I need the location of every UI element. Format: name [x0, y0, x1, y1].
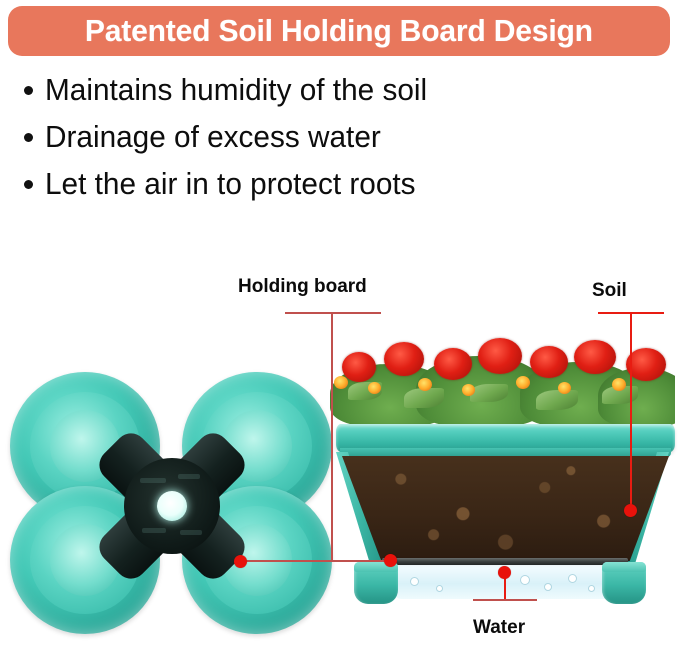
accent-flower-bloom	[462, 384, 475, 396]
water-bubble	[410, 577, 419, 586]
planter-foot	[602, 562, 646, 604]
holding-board-rib	[140, 478, 166, 483]
list-item: Maintains humidity of the soil	[24, 72, 584, 119]
accent-flower-bloom	[334, 376, 348, 389]
soil-leader-vertical	[630, 312, 632, 510]
bullet-point-icon	[24, 133, 33, 142]
callout-label-holding-board: Holding board	[238, 276, 367, 298]
list-item-label: Maintains humidity of the soil	[45, 72, 427, 108]
bullet-point-icon	[24, 180, 33, 189]
planter-cross-section-diagram	[330, 330, 675, 605]
planter-foot-rim	[602, 562, 646, 572]
list-item: Drainage of excess water	[24, 119, 584, 166]
accent-flower-bloom	[368, 382, 381, 394]
holding-board-leader-crossbar	[285, 312, 381, 314]
accent-flower-bloom	[558, 382, 571, 394]
holding-board-insert	[81, 415, 263, 597]
flower-bloom	[626, 348, 666, 381]
header-banner: Patented Soil Holding Board Design	[8, 6, 670, 56]
water-bubble	[436, 585, 443, 592]
page-title: Patented Soil Holding Board Design	[85, 13, 593, 49]
holding-board-rib	[180, 530, 202, 535]
holding-board-leader-vertical	[331, 312, 333, 561]
holding-board-rib	[178, 474, 200, 479]
planter-rim-lip	[340, 448, 671, 457]
callout-label-soil: Soil	[592, 280, 627, 302]
planter-top-view-photo	[8, 372, 334, 634]
water-bubble	[588, 585, 595, 592]
leaf	[536, 390, 578, 410]
water-bubble	[520, 575, 530, 585]
planter-foot	[354, 562, 398, 604]
list-item-label: Drainage of excess water	[45, 119, 381, 155]
accent-flower-bloom	[612, 378, 626, 391]
flower-bloom	[342, 352, 376, 382]
soil-marker-dot	[624, 504, 637, 517]
list-item-label: Let the air in to protect roots	[45, 166, 416, 202]
accent-flower-bloom	[516, 376, 530, 389]
leaf	[404, 388, 444, 408]
drainage-hole	[157, 491, 187, 521]
holding-board-rib	[142, 528, 166, 533]
list-item: Let the air in to protect roots	[24, 166, 584, 213]
flower-bloom	[530, 346, 568, 378]
holding-board-leader-horizontal	[240, 560, 392, 562]
flower-foliage-group	[330, 330, 675, 426]
flower-bloom	[434, 348, 472, 380]
flower-bloom	[478, 338, 522, 374]
product-infographic: Patented Soil Holding Board Design Maint…	[0, 0, 679, 646]
water-bubble	[568, 574, 577, 583]
holding-board-marker-dot	[234, 555, 247, 568]
accent-flower-bloom	[418, 378, 432, 391]
callout-label-water: Water	[473, 617, 525, 639]
flower-bloom	[384, 342, 424, 376]
soil-fill	[342, 456, 669, 561]
bullet-point-icon	[24, 86, 33, 95]
leaf	[470, 384, 508, 402]
water-bubble	[544, 583, 552, 591]
flower-bloom	[574, 340, 616, 374]
water-leader-crossbar	[473, 599, 537, 601]
feature-list: Maintains humidity of the soil Drainage …	[24, 72, 584, 213]
water-marker-dot	[498, 566, 511, 579]
holding-board-marker-dot	[384, 554, 397, 567]
